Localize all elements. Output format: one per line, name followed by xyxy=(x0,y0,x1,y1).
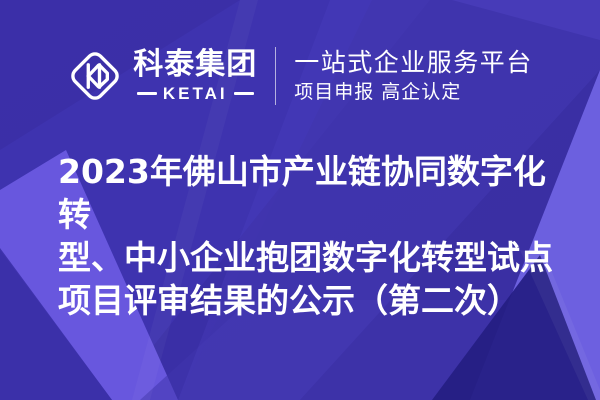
tagline-primary: 一站式企业服务平台 xyxy=(294,48,533,77)
brand-name-cn: 科泰集团 xyxy=(133,50,257,80)
tagline-secondary: 项目申报 高企认定 xyxy=(294,81,533,105)
tagline: 一站式企业服务平台 项目申报 高企认定 xyxy=(294,48,533,105)
dash-right-icon xyxy=(234,92,254,95)
promo-banner: 科泰集团 KETAI 一站式企业服务平台 项目申报 高企认定 2023年佛山市产… xyxy=(0,0,600,400)
header-divider xyxy=(275,47,276,105)
brand-name-en-row: KETAI xyxy=(137,85,254,102)
ketai-diamond-kd-monogram-icon xyxy=(67,48,123,104)
page-title-line-1: 2023年佛山市产业链协同数字化转 xyxy=(58,150,558,236)
brand-name-en: KETAI xyxy=(163,85,228,102)
brand-wordmark: 科泰集团 KETAI xyxy=(133,50,257,102)
page-title-line-2: 型、中小企业抱团数字化转型试点 xyxy=(58,236,558,279)
page-title-line-3: 项目评审结果的公示（第二次） xyxy=(58,279,558,322)
banner-header: 科泰集团 KETAI 一站式企业服务平台 项目申报 高企认定 xyxy=(0,38,600,114)
dash-left-icon xyxy=(137,92,157,95)
page-title: 2023年佛山市产业链协同数字化转 型、中小企业抱团数字化转型试点 项目评审结果… xyxy=(58,150,558,322)
brand-logo: 科泰集团 KETAI xyxy=(67,48,257,104)
